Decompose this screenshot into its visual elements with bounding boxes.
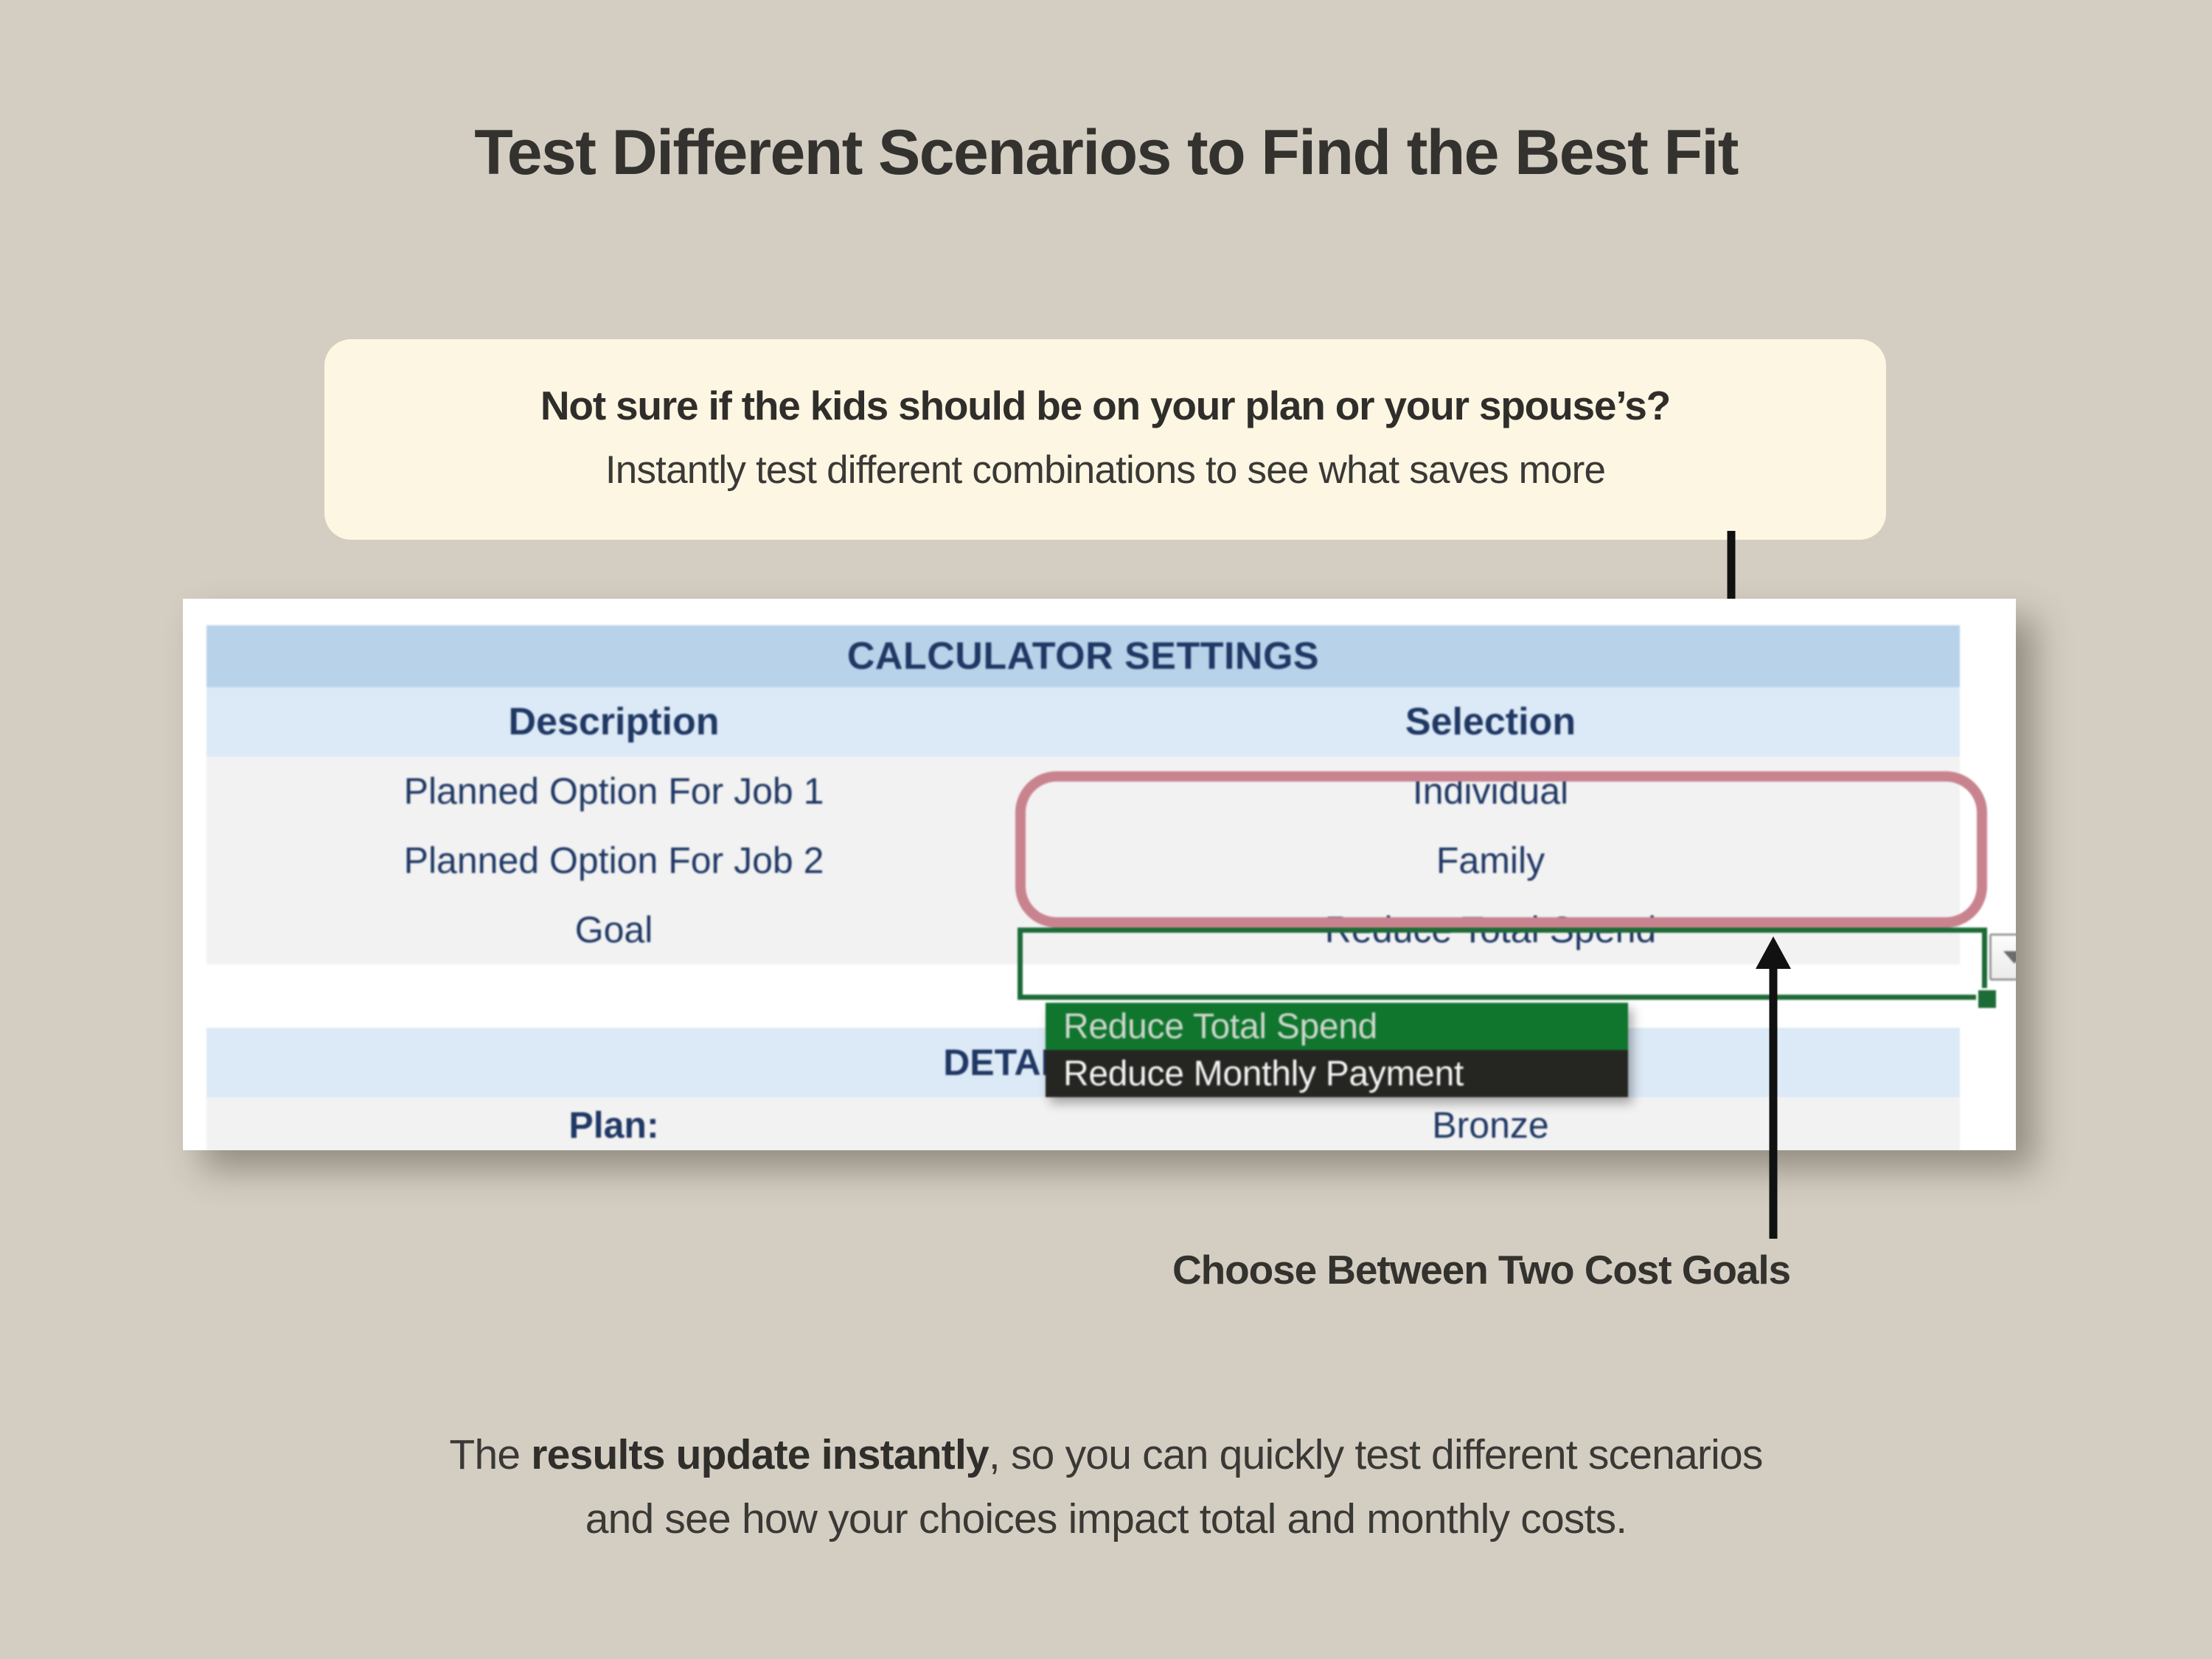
table-row: Goal Reduce Total Spend bbox=[206, 895, 1960, 964]
callout-bubble: Not sure if the kids should be on your p… bbox=[324, 339, 1886, 540]
row-value-plan: Bronze bbox=[1021, 1097, 1960, 1150]
dropdown-option-reduce-total-spend[interactable]: Reduce Total Spend bbox=[1046, 1003, 1628, 1050]
footer-paragraph: The results update instantly, so you can… bbox=[221, 1423, 1991, 1551]
table-row: Plan: Bronze bbox=[206, 1097, 1960, 1150]
column-header-selection: Selection bbox=[1021, 687, 1960, 757]
spreadsheet-screenshot: CALCULATOR SETTINGS Description Selectio… bbox=[183, 599, 2016, 1150]
row-value-goal[interactable]: Reduce Total Spend bbox=[1021, 895, 1960, 964]
chevron-down-icon bbox=[2002, 949, 2016, 965]
annotation-choose-cost-goals: Choose Between Two Cost Goals bbox=[1172, 1246, 2057, 1293]
dropdown-toggle-button[interactable] bbox=[1989, 933, 2016, 981]
footer-text-bold: results update instantly bbox=[531, 1431, 989, 1478]
row-label-job2: Planned Option For Job 2 bbox=[206, 826, 1021, 895]
table-row: Planned Option For Job 2 Family bbox=[206, 826, 1960, 895]
column-header-row: Description Selection bbox=[206, 687, 1960, 757]
footer-text-part2: , so you can quickly test different scen… bbox=[989, 1431, 1763, 1478]
spreadsheet-grid: CALCULATOR SETTINGS Description Selectio… bbox=[206, 625, 1960, 1150]
calculator-settings-title: CALCULATOR SETTINGS bbox=[206, 625, 1960, 687]
footer-text-line2: and see how your choices impact total an… bbox=[585, 1495, 1627, 1543]
callout-headline: Not sure if the kids should be on your p… bbox=[540, 380, 1670, 433]
dropdown-options-list[interactable]: Reduce Total Spend Reduce Monthly Paymen… bbox=[1046, 1003, 1628, 1097]
calculator-settings-header-row: CALCULATOR SETTINGS bbox=[206, 625, 1960, 687]
row-value-job1[interactable]: Individual bbox=[1021, 757, 1960, 826]
row-label-goal: Goal bbox=[206, 895, 1021, 964]
fill-handle[interactable] bbox=[1976, 988, 1998, 1010]
row-value-job2[interactable]: Family bbox=[1021, 826, 1960, 895]
dropdown-option-reduce-monthly-payment[interactable]: Reduce Monthly Payment bbox=[1046, 1050, 1628, 1097]
table-row: Planned Option For Job 1 Individual bbox=[206, 757, 1960, 826]
footer-text-part1: The bbox=[449, 1431, 531, 1478]
column-header-description: Description bbox=[206, 687, 1021, 757]
slide-canvas: Test Different Scenarios to Find the Bes… bbox=[0, 0, 2212, 1659]
row-label-plan: Plan: bbox=[206, 1097, 1021, 1150]
callout-subline: Instantly test different combinations to… bbox=[605, 442, 1605, 499]
row-label-job1: Planned Option For Job 1 bbox=[206, 757, 1021, 826]
page-title: Test Different Scenarios to Find the Bes… bbox=[0, 119, 2212, 186]
